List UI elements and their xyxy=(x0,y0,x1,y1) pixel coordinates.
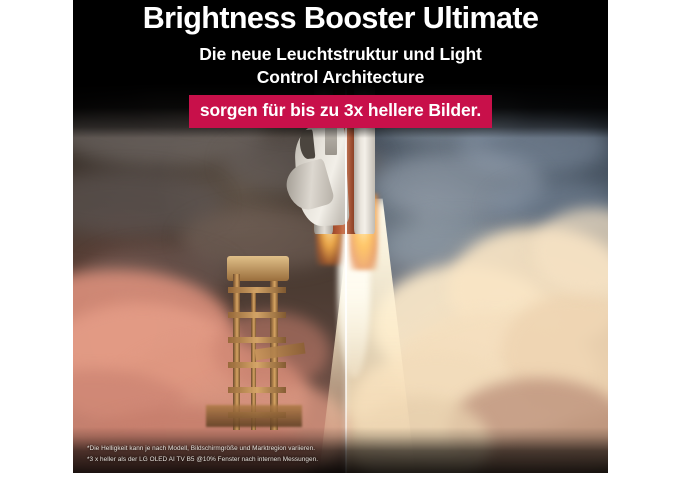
subhead-line-1: Die neue Leuchtstruktur und Light xyxy=(199,44,482,64)
tower-beam-3 xyxy=(228,337,286,343)
footnote-2: *3 x heller als der LG OLED AI TV B5 @10… xyxy=(87,454,318,465)
promo-banner: Brightness Booster Ultimate Die neue Leu… xyxy=(73,0,608,473)
subhead-line-2: Control Architecture xyxy=(257,67,425,87)
tower-beam-2 xyxy=(228,312,286,318)
tower-service-arm xyxy=(255,343,306,361)
launch-tower xyxy=(220,274,300,430)
highlight-banner-text: sorgen für bis zu 3x hellere Bilder. xyxy=(189,95,492,128)
banner-copy: Brightness Booster Ultimate Die neue Leu… xyxy=(73,0,608,128)
footnotes: *Die Helligkeit kann je nach Modell, Bil… xyxy=(87,443,318,465)
tower-base xyxy=(206,405,302,427)
subhead: Die neue Leuchtstruktur und Light Contro… xyxy=(73,43,608,90)
highlight-wrapper: sorgen für bis zu 3x hellere Bilder. xyxy=(73,95,608,128)
tower-beam-1 xyxy=(228,287,286,293)
tower-beam-4 xyxy=(228,362,286,368)
headline: Brightness Booster Ultimate xyxy=(73,3,608,34)
tower-beam-5 xyxy=(228,387,286,393)
page-canvas: Brightness Booster Ultimate Die neue Leu… xyxy=(0,0,680,480)
footnote-1: *Die Helligkeit kann je nach Modell, Bil… xyxy=(87,443,318,454)
